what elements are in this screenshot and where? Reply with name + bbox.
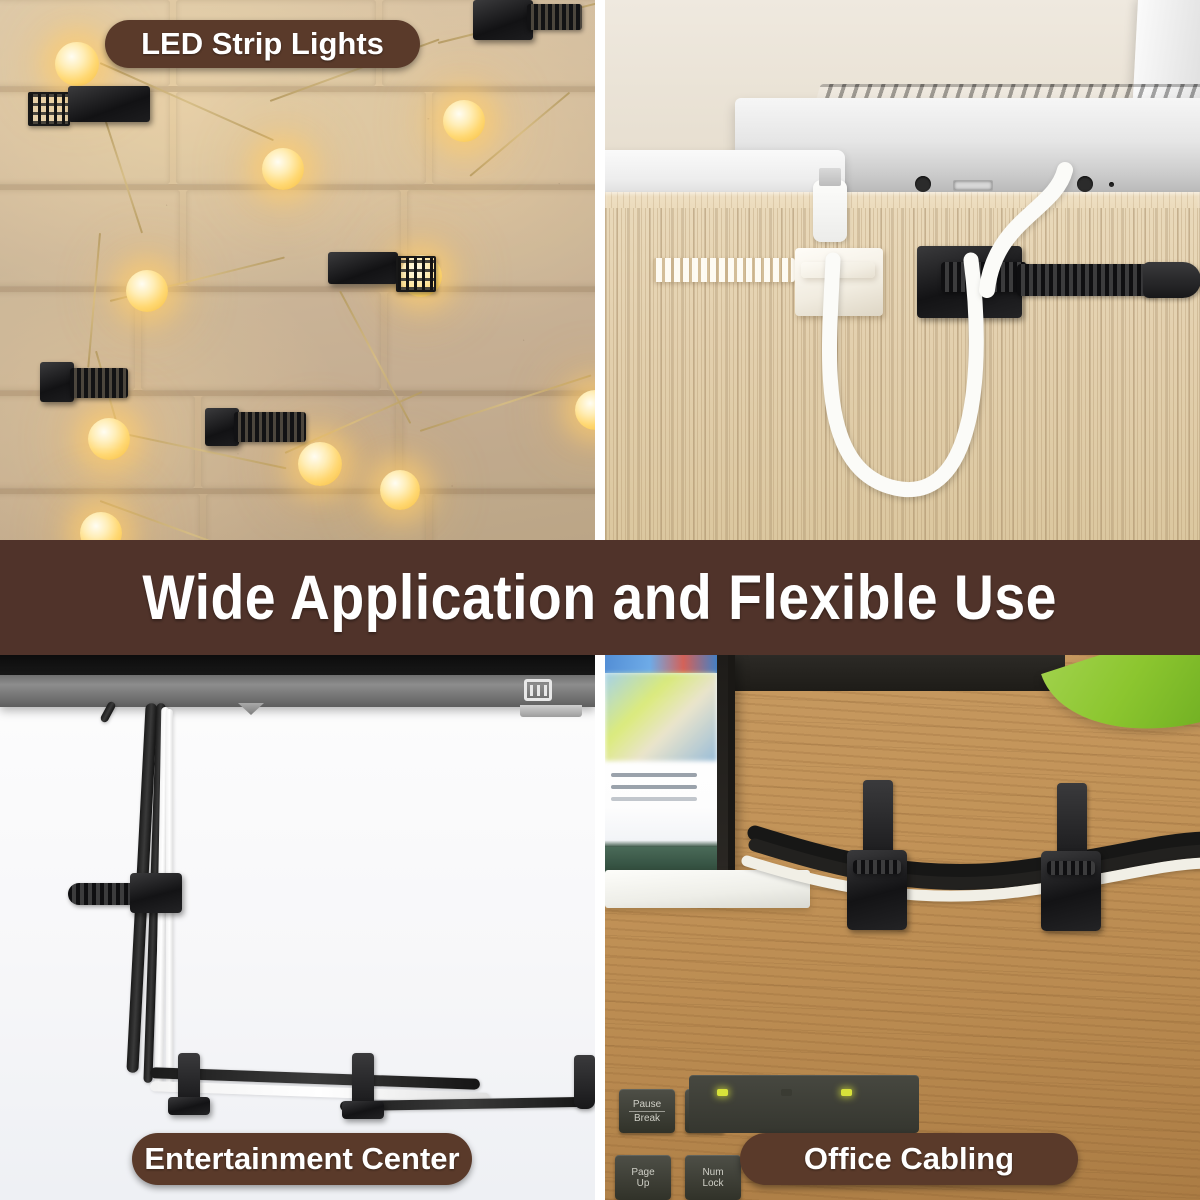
monitor-screen	[605, 655, 717, 873]
brick	[432, 494, 595, 540]
label-text: LED Strip Lights	[141, 26, 384, 62]
white-power-cable	[935, 130, 1095, 290]
mortar-line	[0, 488, 595, 494]
brick	[402, 396, 595, 488]
label-led-strip-lights: LED Strip Lights	[105, 20, 420, 68]
banner-wide-application: Wide Application and Flexible Use	[0, 540, 1200, 655]
monitor-top-bar	[735, 655, 1065, 691]
headphone-port-icon	[915, 176, 931, 192]
wall-background	[0, 655, 595, 1200]
cable-clip	[130, 873, 182, 913]
cable-clip-strap	[527, 4, 582, 30]
caps-lock-led-icon	[781, 1089, 792, 1096]
label-text: Office Cabling	[804, 1141, 1014, 1177]
cable-clip	[328, 252, 398, 284]
cable-clip	[396, 256, 436, 292]
key-label: Up	[637, 1178, 650, 1189]
lightning-tip-icon	[819, 168, 841, 186]
brick	[387, 292, 595, 390]
office-monitor	[605, 655, 735, 890]
black-cable-clip-tab	[1143, 262, 1200, 298]
key-label: Lock	[702, 1178, 723, 1189]
key-label: Page	[631, 1167, 654, 1178]
cable-clip	[40, 362, 74, 402]
num-lock-led-icon	[717, 1089, 728, 1096]
panel-desk-wire-management: Desk Wire Management	[605, 0, 1200, 540]
led-bulb	[88, 418, 130, 460]
cable-clip	[342, 1101, 384, 1119]
keyboard-indicator-panel	[689, 1075, 919, 1133]
screen-text-lines	[611, 773, 697, 777]
white-cable-clip-strap	[653, 258, 795, 282]
key-label: Pause	[633, 1099, 661, 1110]
panel-office-cabling: Pause Break Page Up Num Lock Office Cabl…	[605, 655, 1200, 1200]
scroll-lock-led-icon	[841, 1089, 852, 1096]
mortar-line	[0, 286, 595, 292]
key-divider	[629, 1111, 665, 1112]
led-bulb	[298, 442, 342, 486]
key-label: Break	[634, 1113, 660, 1124]
key-pause-break[interactable]: Pause Break	[619, 1089, 675, 1133]
panel-entertainment-center: Entertainment Center	[0, 655, 595, 1200]
cable-clip-buckle	[853, 860, 901, 874]
key-page-up[interactable]: Page Up	[615, 1155, 671, 1200]
cable-clip-strap	[70, 368, 128, 398]
key-num-lock[interactable]: Num Lock	[685, 1155, 741, 1200]
label-text: Entertainment Center	[144, 1141, 459, 1177]
indicator-led-icon	[1109, 182, 1114, 187]
tv-stand	[520, 705, 582, 717]
flat-cable-run	[725, 805, 1200, 945]
key-label: Num	[702, 1167, 723, 1178]
led-bulb	[126, 270, 168, 312]
cable-clip	[28, 92, 70, 126]
cable-clip-buckle	[1047, 861, 1095, 875]
cable-clip	[68, 86, 150, 122]
label-office-cabling: Office Cabling	[740, 1133, 1078, 1185]
label-entertainment-center: Entertainment Center	[132, 1133, 472, 1185]
screen-browser-bar	[605, 655, 717, 673]
cable-clip-tab	[574, 1055, 595, 1109]
panel-led-strip-lights: LED Strip Lights	[0, 0, 595, 540]
led-bulb	[262, 148, 304, 190]
screen-image-content	[605, 673, 717, 761]
product-feature-collage: LED Strip Lights	[0, 0, 1200, 1200]
mortar-line	[0, 184, 595, 190]
led-bulb	[380, 470, 420, 510]
cable-clip	[473, 0, 533, 40]
cable-clip	[168, 1097, 210, 1115]
brick	[141, 292, 381, 390]
led-bulb	[55, 42, 99, 86]
led-bulb	[443, 100, 485, 142]
tv-bezel	[0, 675, 595, 707]
cable-clip-strap	[234, 412, 306, 442]
mi-brand-logo-icon	[524, 679, 552, 701]
banner-text: Wide Application and Flexible Use	[143, 562, 1058, 634]
